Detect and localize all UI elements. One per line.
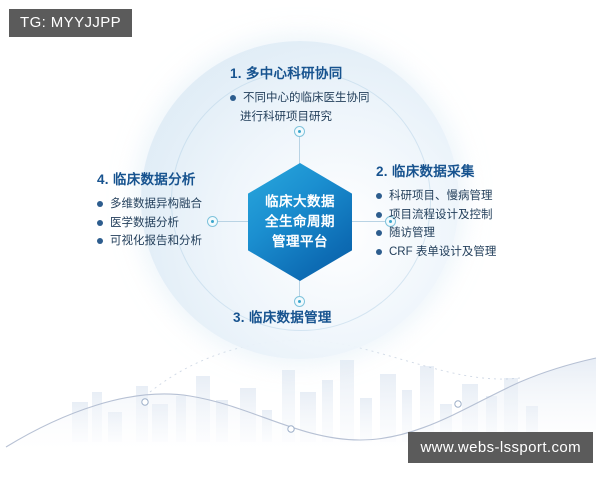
section-4-title: 4. 临床数据分析 [97,168,202,188]
list-item: 医学数据分析 [97,214,202,233]
hexagon-line-2: 全生命周期 [265,212,335,232]
section-data-collection: 2. 临床数据采集 科研项目、慢病管理 项目流程设计及控制 随访管理 CRF 表… [376,160,496,262]
list-item: 科研项目、慢病管理 [376,187,496,206]
list-item: 随访管理 [376,224,496,243]
list-item: CRF 表单设计及管理 [376,243,496,262]
list-item: 不同中心的临床医生协同 [230,89,370,108]
section-1-bullets: 不同中心的临床医生协同 进行科研项目研究 [230,89,370,126]
section-2-title: 2. 临床数据采集 [376,160,496,180]
watermark-top-left: TG: MYYJJPP [9,9,132,37]
hexagon-line-3: 管理平台 [272,232,328,252]
list-item: 项目流程设计及控制 [376,206,496,225]
list-item: 进行科研项目研究 [230,108,370,127]
section-data-management: 3. 临床数据管理 [233,306,332,333]
section-3-title: 3. 临床数据管理 [233,306,332,326]
skyline-silhouette [72,360,538,442]
section-1-title: 1. 多中心科研协同 [230,62,370,82]
wave-markers [142,399,461,432]
connector-node-left [207,216,218,227]
watermark-bottom-right: www.webs-lssport.com [408,432,593,463]
hexagon-line-1: 临床大数据 [265,192,335,212]
list-item: 多维数据异构融合 [97,195,202,214]
section-4-bullets: 多维数据异构融合 医学数据分析 可视化报告和分析 [97,195,202,251]
section-data-analysis: 4. 临床数据分析 多维数据异构融合 医学数据分析 可视化报告和分析 [97,168,202,251]
connector-node-top [294,126,305,137]
section-2-bullets: 科研项目、慢病管理 项目流程设计及控制 随访管理 CRF 表单设计及管理 [376,187,496,262]
section-multicenter-research: 1. 多中心科研协同 不同中心的临床医生协同 进行科研项目研究 [230,62,370,126]
list-item: 可视化报告和分析 [97,232,202,251]
infographic-canvas: 临床大数据 全生命周期 管理平台 1. 多中心科研协同 不同中心的临床医生协同 … [0,0,600,480]
